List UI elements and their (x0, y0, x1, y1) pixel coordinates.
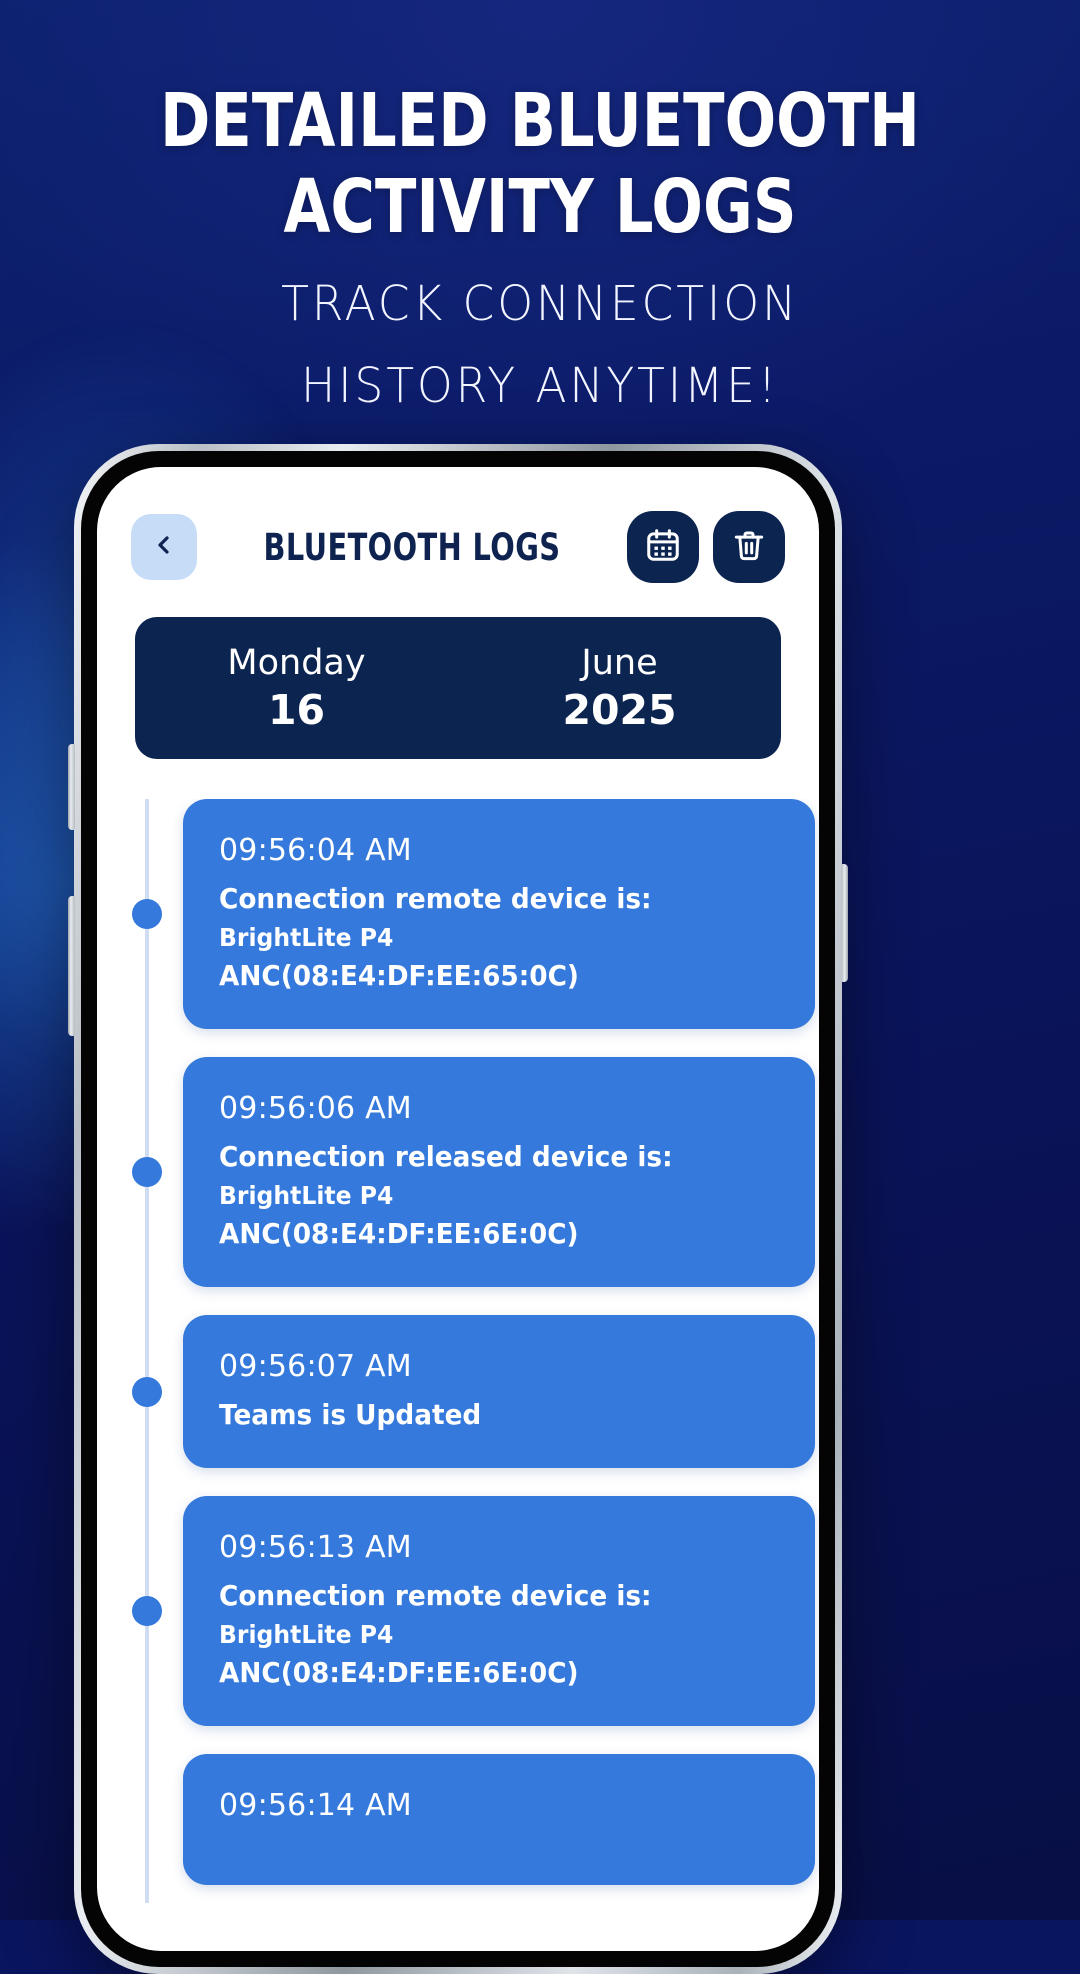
date-day: 16 (135, 685, 458, 735)
phone-power-button[interactable] (841, 864, 848, 982)
timeline-dot (132, 899, 162, 929)
list-item[interactable]: 09:56:13 AM Connection remote device is:… (97, 1496, 819, 1726)
log-list[interactable]: 09:56:04 AM Connection remote device is:… (97, 799, 819, 1903)
log-time: 09:56:07 AM (219, 1349, 779, 1384)
log-device-name: BrightLite P4 (219, 1181, 393, 1210)
log-message: Teams is Updated (219, 1396, 745, 1434)
log-card[interactable]: 09:56:14 AM (183, 1754, 815, 1885)
list-item[interactable]: 09:56:06 AM Connection released device i… (97, 1057, 819, 1287)
phone-bezel: BLUETOOTH LOGS (81, 451, 835, 1967)
log-message-text: Connection remote device is: (219, 1579, 652, 1612)
log-message: Connection released device is: BrightLit… (219, 1138, 745, 1253)
promo-subline-line1: TRACK CONNECTION (27, 276, 1053, 332)
header-actions (627, 511, 785, 583)
date-month: June (458, 641, 781, 685)
log-time: 09:56:14 AM (219, 1788, 779, 1823)
promo-headline-line1: DETAILED BLUETOOTH (97, 78, 983, 164)
phone-screen: BLUETOOTH LOGS (97, 467, 819, 1951)
promo-headline-line2: ACTIVITY LOGS (97, 164, 983, 250)
log-message-text: Teams is Updated (219, 1398, 481, 1431)
date-card[interactable]: Monday 16 June 2025 (135, 617, 781, 759)
app-header: BLUETOOTH LOGS (97, 467, 819, 583)
log-message-text: Connection released device is: (219, 1140, 673, 1173)
log-message: Connection remote device is: BrightLite … (219, 880, 745, 995)
timeline-dot (132, 1377, 162, 1407)
date-year: 2025 (458, 685, 781, 735)
phone-volume-button[interactable] (68, 896, 75, 1036)
trash-icon (730, 526, 768, 569)
date-weekday: Monday (135, 641, 458, 685)
log-device-name: BrightLite P4 (219, 1620, 393, 1649)
log-card[interactable]: 09:56:13 AM Connection remote device is:… (183, 1496, 815, 1726)
log-time: 09:56:04 AM (219, 833, 779, 868)
timeline-dot (132, 1157, 162, 1187)
log-message: Connection remote device is: BrightLite … (219, 1577, 745, 1692)
promo-text-block: DETAILED BLUETOOTH ACTIVITY LOGS TRACK C… (0, 78, 1080, 414)
date-month-column: June 2025 (458, 641, 781, 735)
log-card[interactable]: 09:56:07 AM Teams is Updated (183, 1315, 815, 1468)
promo-subline-line2: HISTORY ANYTIME! (27, 358, 1053, 414)
timeline-dot (132, 1596, 162, 1626)
list-item[interactable]: 09:56:14 AM (97, 1754, 819, 1885)
log-device-detail: ANC(08:E4:DF:EE:6E:0C) (219, 1217, 579, 1250)
back-button[interactable] (131, 514, 197, 580)
delete-button[interactable] (713, 511, 785, 583)
list-item[interactable]: 09:56:07 AM Teams is Updated (97, 1315, 819, 1468)
phone-silent-button[interactable] (68, 744, 75, 830)
log-time: 09:56:13 AM (219, 1530, 779, 1565)
log-time: 09:56:06 AM (219, 1091, 779, 1126)
chevron-left-icon (152, 533, 176, 562)
calendar-button[interactable] (627, 511, 699, 583)
log-device-detail: ANC(08:E4:DF:EE:6E:0C) (219, 1656, 579, 1689)
log-card[interactable]: 09:56:06 AM Connection released device i… (183, 1057, 815, 1287)
date-weekday-column: Monday 16 (135, 641, 458, 735)
log-device-name: BrightLite P4 (219, 923, 393, 952)
list-item[interactable]: 09:56:04 AM Connection remote device is:… (97, 799, 819, 1029)
log-message-text: Connection remote device is: (219, 882, 652, 915)
log-card[interactable]: 09:56:04 AM Connection remote device is:… (183, 799, 815, 1029)
log-device-detail: ANC(08:E4:DF:EE:65:0C) (219, 959, 579, 992)
calendar-icon (644, 526, 682, 569)
phone-mockup: BLUETOOTH LOGS (74, 444, 842, 1974)
page-title: BLUETOOTH LOGS (255, 526, 569, 569)
